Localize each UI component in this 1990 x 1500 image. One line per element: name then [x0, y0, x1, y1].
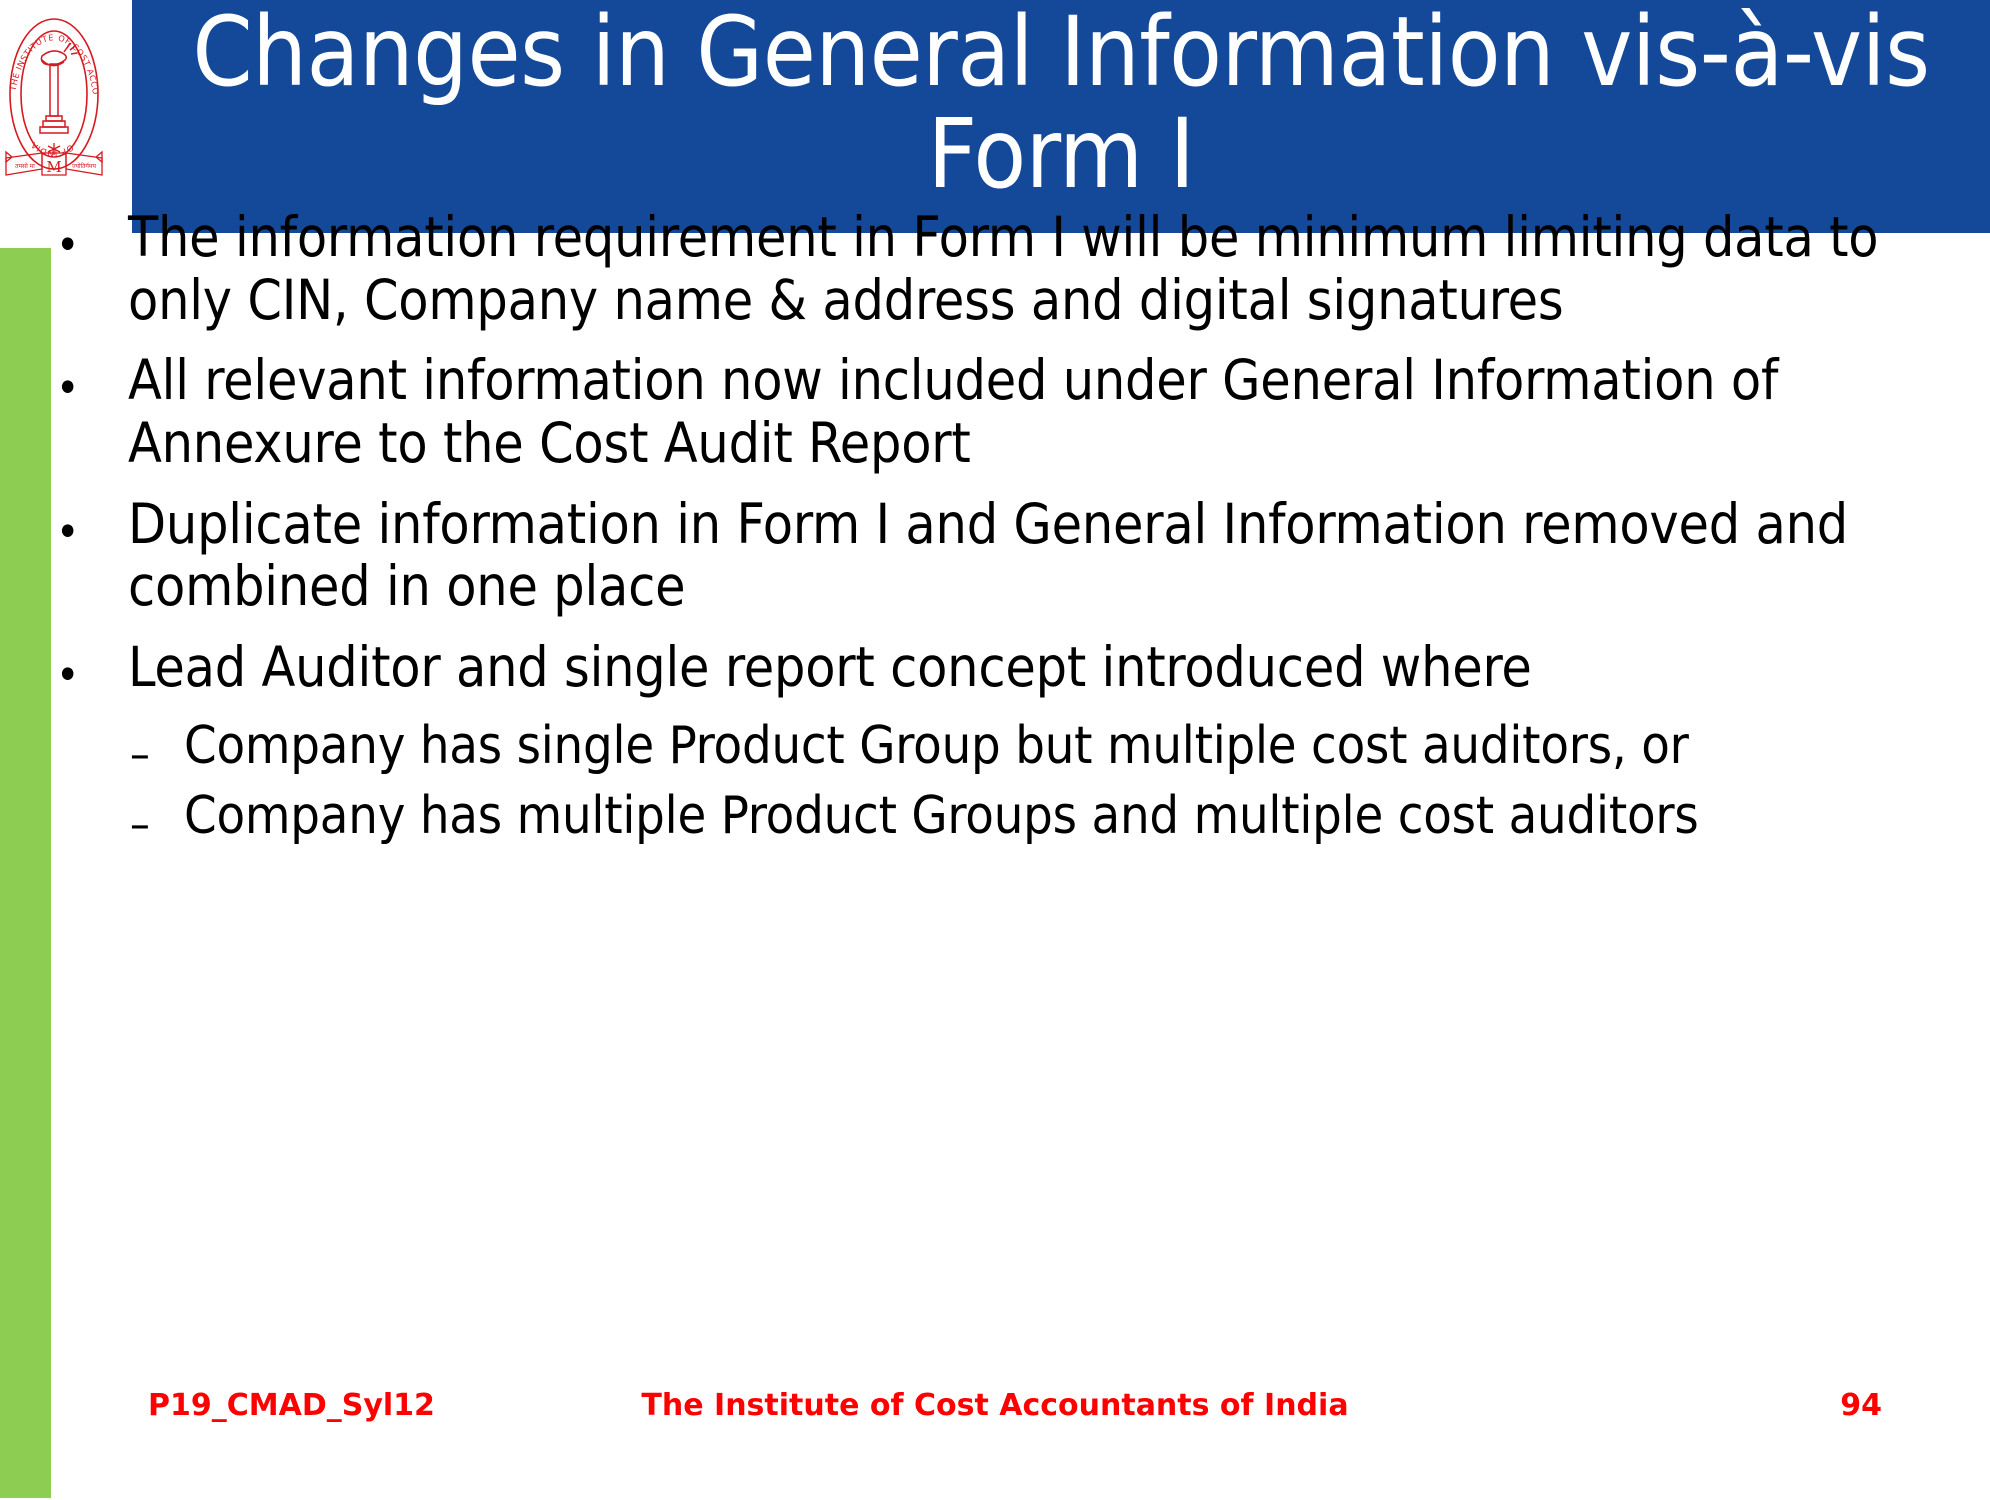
slide-title-banner: Changes in General Information vis-à-vis…: [132, 0, 1990, 233]
bullet-marker-icon: •: [56, 636, 128, 698]
bullet-item: • The information requirement in Form I …: [56, 206, 1990, 331]
dash-marker-icon: –: [130, 717, 184, 777]
bullet-item: • All relevant information now included …: [56, 349, 1990, 474]
bullet-text: Lead Auditor and single report concept i…: [128, 636, 1990, 699]
sub-bullet-text: Company has single Product Group but mul…: [184, 717, 1990, 776]
bullet-item: • Duplicate information in Form I and Ge…: [56, 493, 1990, 618]
svg-text:ज्योतिर्गमय: ज्योतिर्गमय: [72, 162, 96, 170]
dash-marker-icon: –: [130, 787, 184, 847]
sub-bullet-item: – Company has multiple Product Groups an…: [56, 787, 1990, 847]
bullet-item: • Lead Auditor and single report concept…: [56, 636, 1990, 699]
slide-body: • The information requirement in Form I …: [56, 206, 1990, 1346]
sub-bullet-item: – Company has single Product Group but m…: [56, 717, 1990, 777]
slide-title: Changes in General Information vis-à-vis…: [171, 0, 1951, 206]
left-accent-bar: [0, 248, 51, 1498]
bullet-text: All relevant information now included un…: [128, 349, 1990, 474]
institute-logo: THE INSTITUTE OF COST ACCOUNTANTS OF IND…: [2, 2, 106, 184]
bullet-marker-icon: •: [56, 206, 128, 268]
bullet-text: Duplicate information in Form I and Gene…: [128, 493, 1990, 618]
bullet-marker-icon: •: [56, 349, 128, 411]
sub-bullet-text: Company has multiple Product Groups and …: [184, 787, 1990, 846]
bullet-text: The information requirement in Form I wi…: [128, 206, 1990, 331]
footer-page-number: 94: [0, 1388, 1882, 1423]
bullet-marker-icon: •: [56, 493, 128, 555]
slide-footer: P19_CMAD_Syl12 The Institute of Cost Acc…: [0, 1382, 1990, 1432]
svg-text:M: M: [46, 158, 61, 176]
svg-text:तमसो मा: तमसो मा: [15, 162, 35, 170]
